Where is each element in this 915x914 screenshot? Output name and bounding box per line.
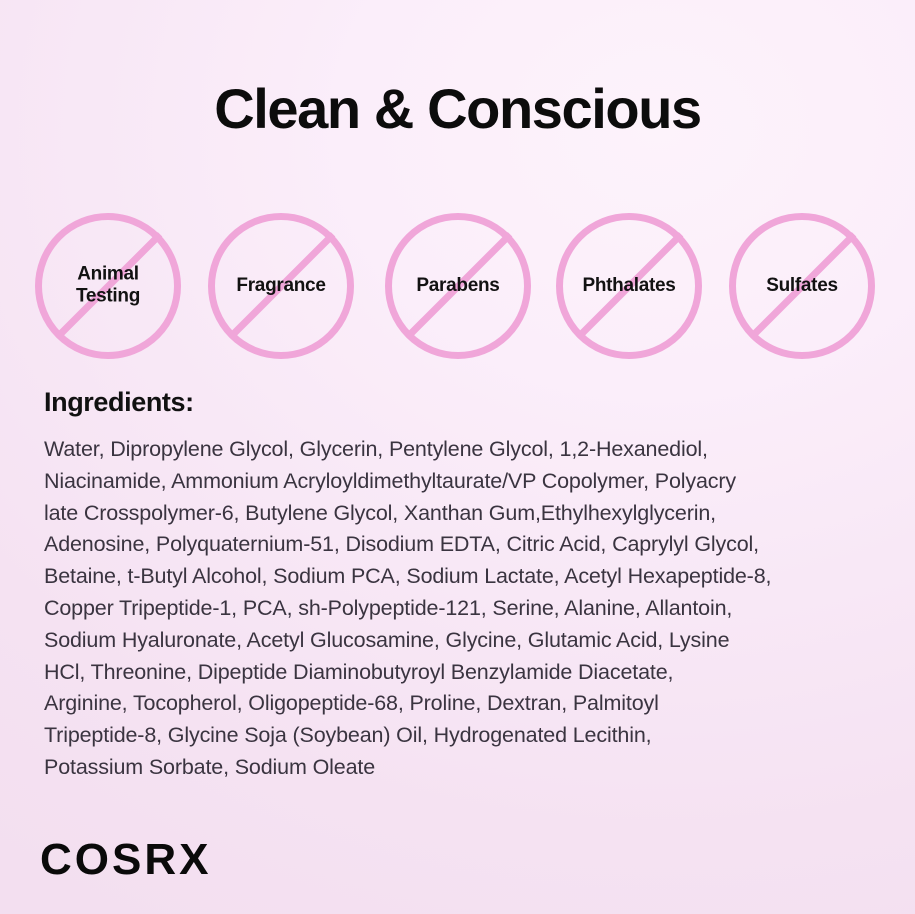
ingredients-line: Tripeptide-8, Glycine Soja (Soybean) Oil… [44, 720, 880, 752]
ingredients-line: Arginine, Tocopherol, Oligopeptide-68, P… [44, 688, 880, 720]
free-from-badge-row: Animal Testing Fragrance Parabens Phthal… [0, 213, 915, 363]
badge-label: Animal Testing [23, 264, 193, 309]
badge-animal-testing: Animal Testing [35, 213, 181, 359]
page-title: Clean & Conscious [0, 80, 915, 139]
ingredients-line: Potassium Sorbate, Sodium Oleate [44, 752, 880, 784]
badge-parabens: Parabens [385, 213, 531, 359]
ingredients-line: late Crosspolymer-6, Butylene Glycol, Xa… [44, 498, 880, 530]
badge-label: Phthalates [544, 275, 714, 297]
ingredients-list: Water, Dipropylene Glycol, Glycerin, Pen… [44, 434, 880, 784]
clean-conscious-infographic: Clean & Conscious Animal Testing Fragran… [0, 0, 915, 914]
ingredients-line: Betaine, t-Butyl Alcohol, Sodium PCA, So… [44, 561, 880, 593]
ingredients-line: HCl, Threonine, Dipeptide Diaminobutyroy… [44, 657, 880, 689]
ingredients-line: Water, Dipropylene Glycol, Glycerin, Pen… [44, 434, 880, 466]
badge-label: Fragrance [196, 275, 366, 297]
badge-phthalates: Phthalates [556, 213, 702, 359]
badge-label: Parabens [373, 275, 543, 297]
ingredients-line: Adenosine, Polyquaternium-51, Disodium E… [44, 529, 880, 561]
ingredients-line: Niacinamide, Ammonium Acryloyldimethylta… [44, 466, 880, 498]
brand-logo: COSRX [40, 838, 211, 882]
ingredients-heading: Ingredients: [44, 387, 194, 418]
badge-label: Sulfates [717, 275, 887, 297]
badge-fragrance: Fragrance [208, 213, 354, 359]
badge-sulfates: Sulfates [729, 213, 875, 359]
ingredients-line: Copper Tripeptide-1, PCA, sh-Polypeptide… [44, 593, 880, 625]
ingredients-line: Sodium Hyaluronate, Acetyl Glucosamine, … [44, 625, 880, 657]
